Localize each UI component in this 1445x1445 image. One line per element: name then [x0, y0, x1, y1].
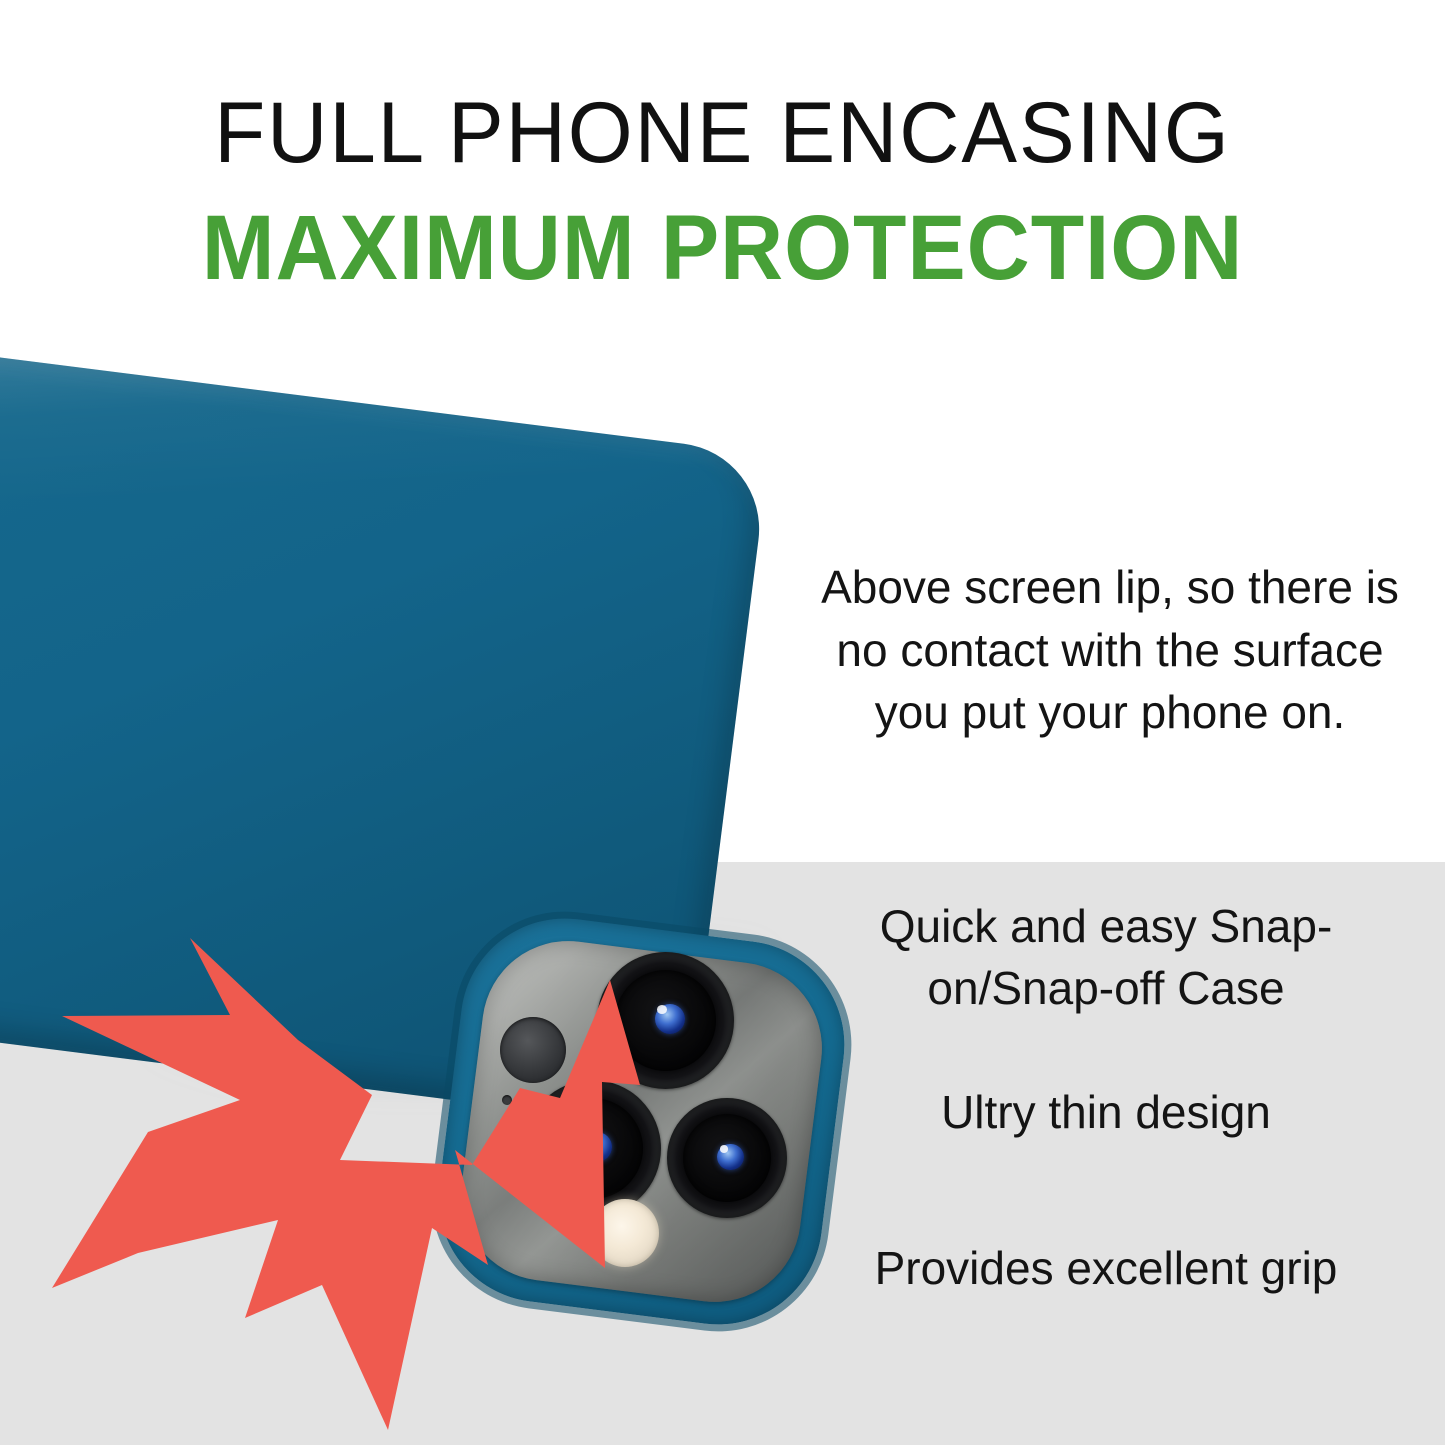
feature-text-above-screen-lip: Above screen lip, so there is no contact… — [800, 556, 1420, 744]
headline-block: FULL PHONE ENCASING MAXIMUM PROTECTION — [0, 88, 1445, 297]
lightning-bolt-icon — [40, 920, 680, 1440]
lens-glint — [717, 1144, 743, 1170]
camera-lens-right — [667, 1098, 787, 1218]
feature-text-excellent-grip: Provides excellent grip — [790, 1238, 1422, 1300]
headline-secondary: MAXIMUM PROTECTION — [36, 200, 1409, 297]
feature-text-ultra-thin-design: Ultry thin design — [790, 1082, 1422, 1144]
lightning-bolt-shape — [52, 938, 640, 1430]
product-feature-poster: FULL PHONE ENCASING MAXIMUM PROTECTION A… — [0, 0, 1445, 1445]
headline-primary: FULL PHONE ENCASING — [22, 88, 1424, 178]
feature-text-snap-on-snap-off: Quick and easy Snap-on/Snap-off Case — [790, 896, 1422, 1019]
